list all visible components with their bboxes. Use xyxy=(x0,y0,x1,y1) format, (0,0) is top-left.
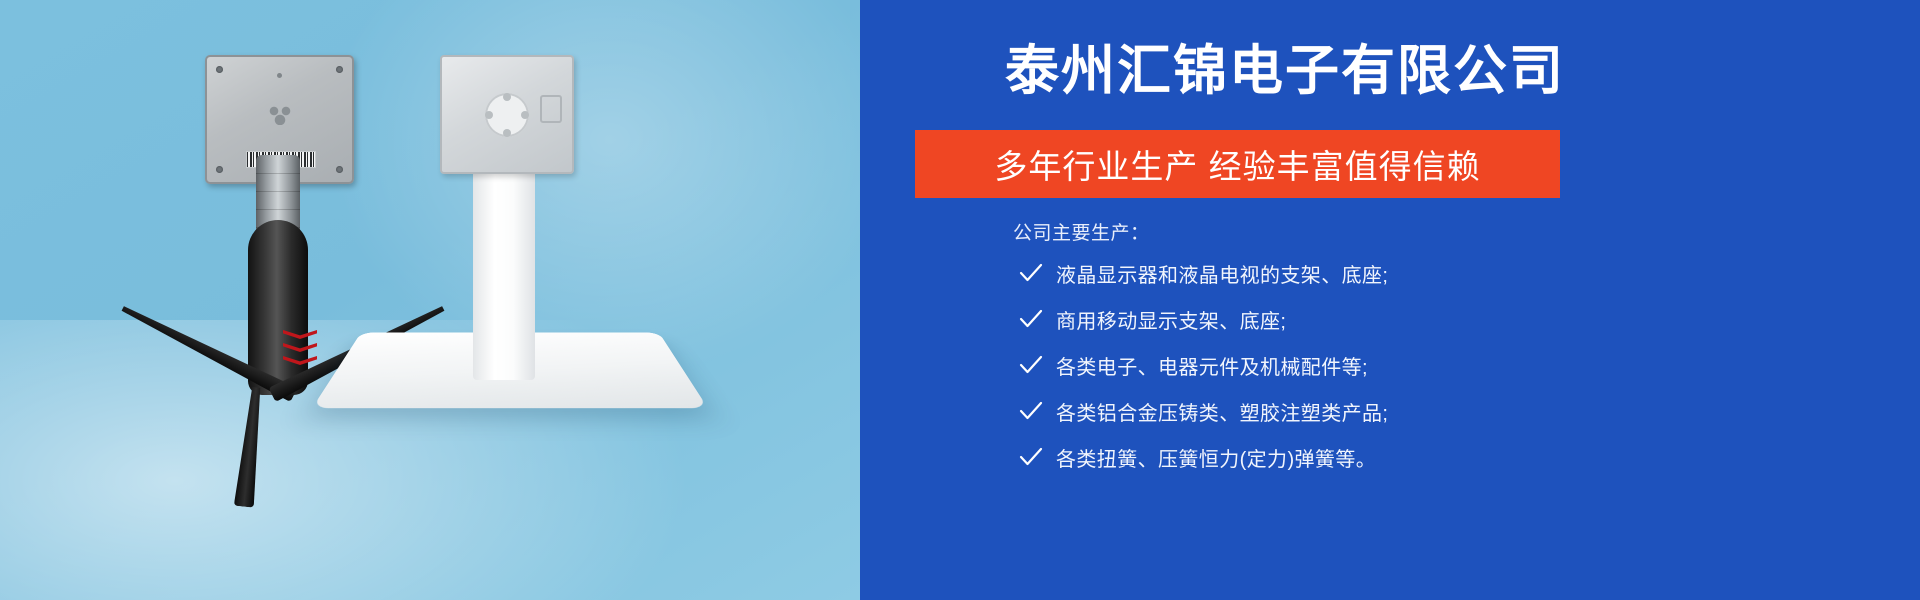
list-item-label: 各类扭簧、压簧恒力(定力)弹簧等。 xyxy=(1056,443,1376,472)
check-icon xyxy=(1018,260,1044,286)
list-item: 各类铝合金压铸类、塑胶注塑类产品; xyxy=(1018,392,1718,430)
promo-banner-text: 多年行业生产 经验丰富值得信赖 xyxy=(994,140,1480,188)
check-icon xyxy=(1018,444,1044,470)
list-item: 商用移动显示支架、底座; xyxy=(1018,300,1718,338)
screw-hole-icon xyxy=(503,93,511,101)
screw-icon xyxy=(216,166,223,173)
promo-banner: 多年行业生产 经验丰富值得信赖 xyxy=(915,130,1560,198)
screw-hole-icon xyxy=(521,111,529,119)
product-feature-list: 液晶显示器和液晶电视的支架、底座; 商用移动显示支架、底座; 各类电子、电器元件… xyxy=(1018,254,1718,484)
check-icon xyxy=(1018,398,1044,424)
company-title: 泰州汇锦电子有限公司 xyxy=(1005,44,1565,98)
screw-icon xyxy=(336,66,343,73)
list-item-label: 各类电子、电器元件及机械配件等; xyxy=(1056,351,1368,380)
check-icon xyxy=(1018,352,1044,378)
list-item-label: 商用移动显示支架、底座; xyxy=(1056,305,1286,334)
neck-ridge xyxy=(256,191,300,192)
latch-icon xyxy=(540,95,562,123)
product-intro-label: 公司主要生产： xyxy=(855,218,1915,245)
company-info-panel: 泰州汇锦电子有限公司 多年行业生产 经验丰富值得信赖 公司主要生产： 液晶显示器… xyxy=(860,0,1920,600)
screw-hole-icon xyxy=(485,111,493,119)
product-photo-panel xyxy=(0,0,860,600)
neck-ridge xyxy=(256,209,300,210)
product-banner: 泰州汇锦电子有限公司 多年行业生产 经验丰富值得信赖 公司主要生产： 液晶显示器… xyxy=(0,0,1920,600)
stand-column-white xyxy=(473,165,535,380)
stand-pole-black xyxy=(248,220,308,395)
white-flat-base-monitor-stand xyxy=(345,55,675,440)
screw-icon xyxy=(336,166,343,173)
list-item-label: 液晶显示器和液晶电视的支架、底座; xyxy=(1056,259,1388,288)
screw-hole-icon xyxy=(503,129,511,137)
screw-icon xyxy=(216,66,223,73)
list-item-label: 各类铝合金压铸类、塑胶注塑类产品; xyxy=(1056,397,1388,426)
vesa-mount-plate-white xyxy=(440,55,574,174)
neck-ridge xyxy=(256,173,300,174)
list-item: 各类扭簧、压簧恒力(定力)弹簧等。 xyxy=(1018,438,1718,476)
list-item: 各类电子、电器元件及机械配件等; xyxy=(1018,346,1718,384)
mount-pin-icon xyxy=(277,73,282,78)
list-item: 液晶显示器和液晶电视的支架、底座; xyxy=(1018,254,1718,292)
brand-mark-icon xyxy=(267,105,293,125)
check-icon xyxy=(1018,306,1044,332)
